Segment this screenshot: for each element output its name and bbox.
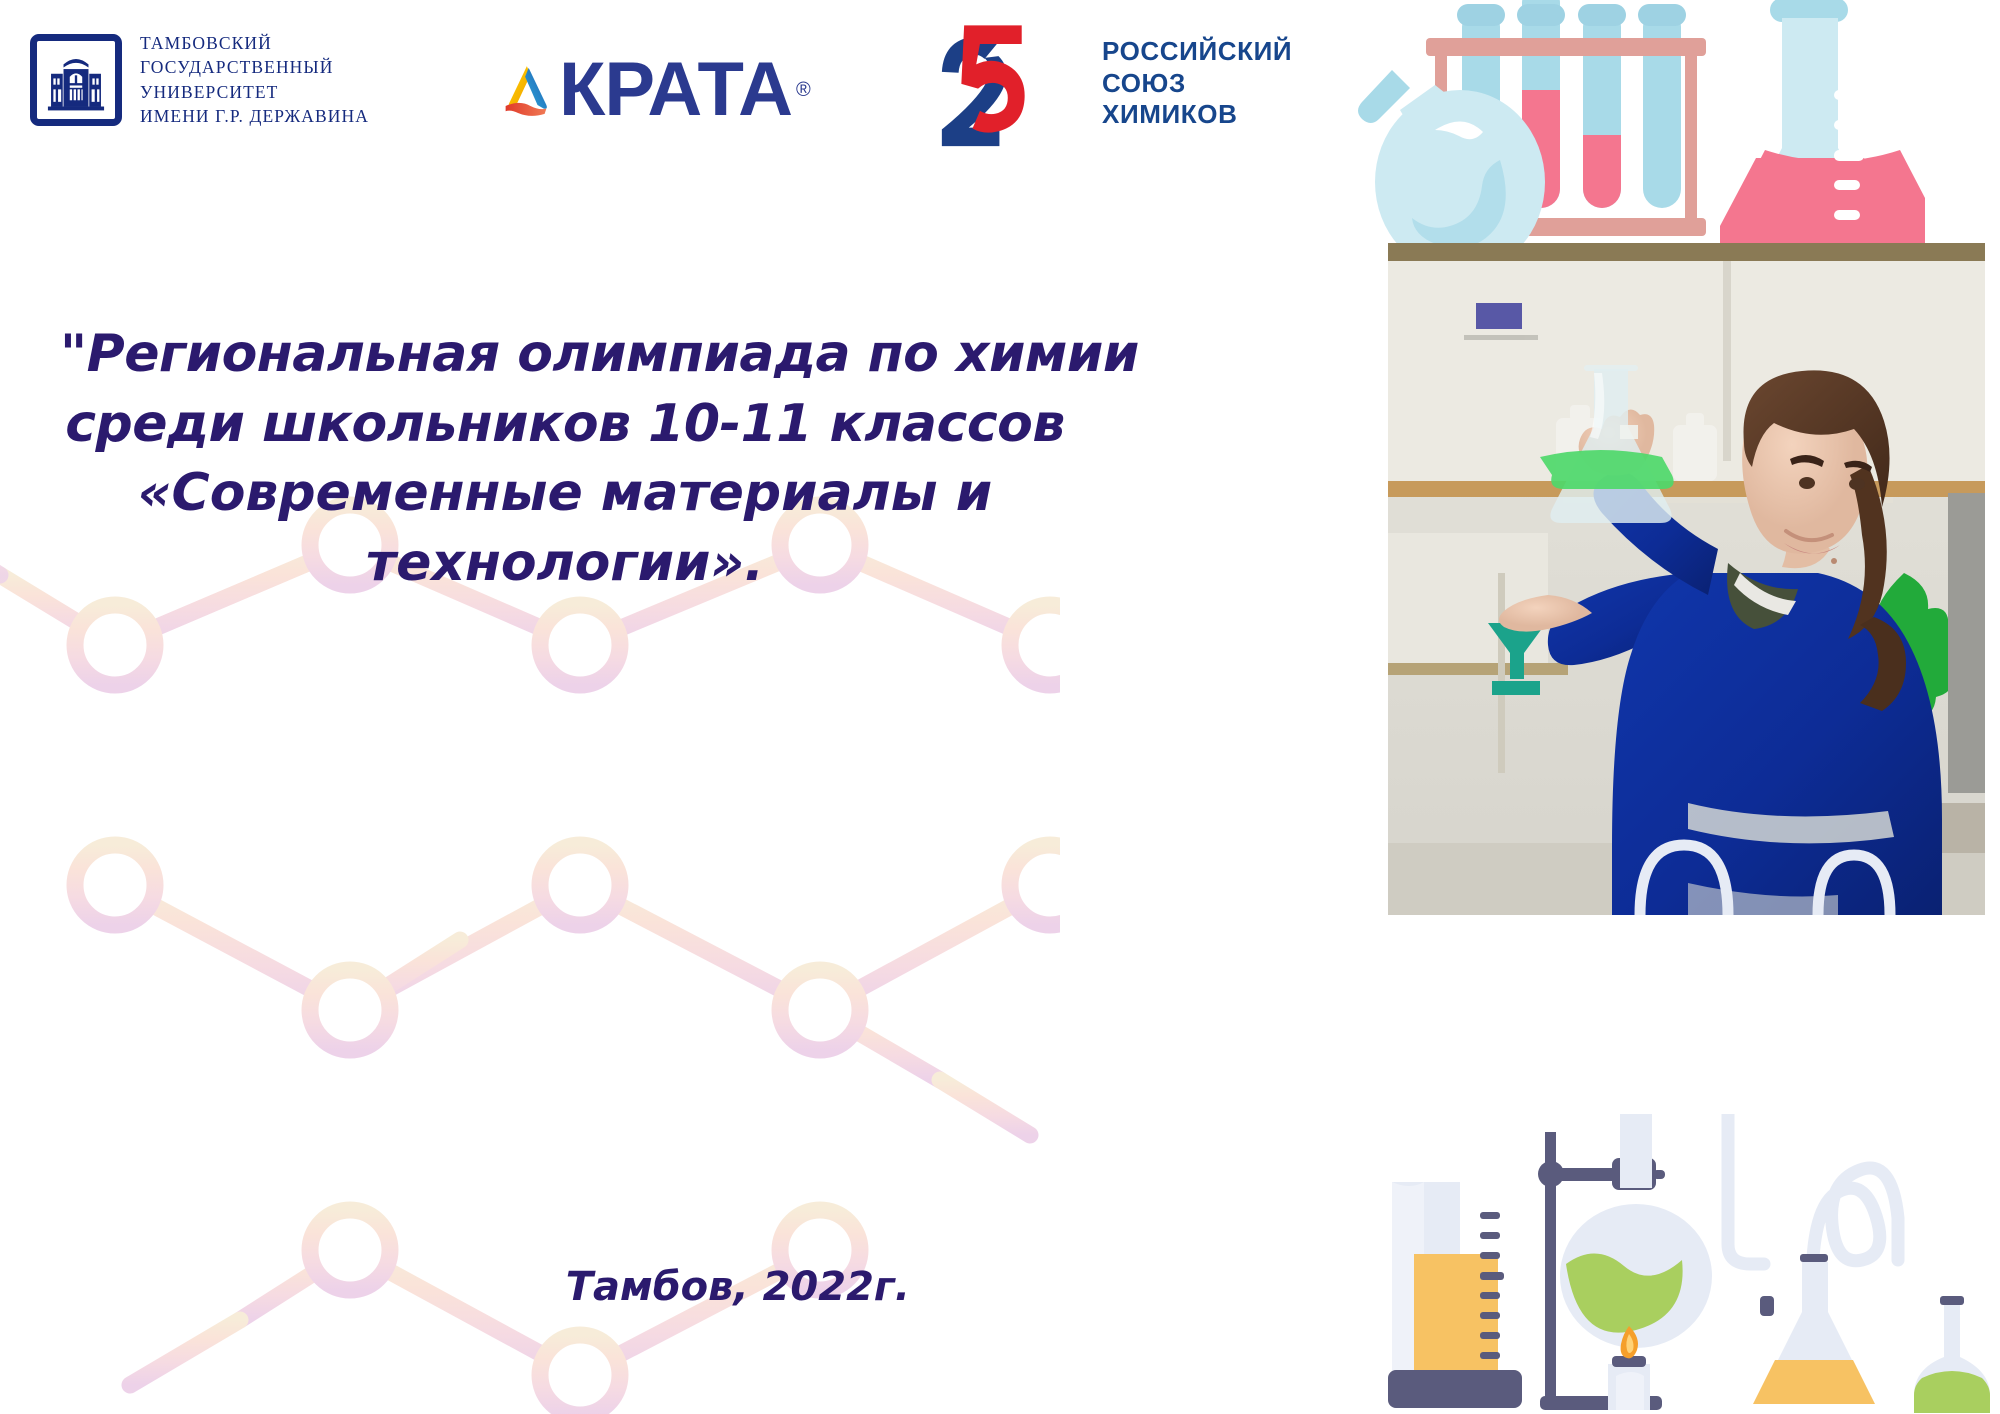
sponsor-wordmark: КРАТА [559, 52, 792, 128]
sponsor-logo: КРАТА ® [495, 52, 811, 128]
lab-apparatus-icon [1340, 1114, 2000, 1414]
university-line-2: ГОСУДАРСТВЕННЫЙ [140, 56, 369, 78]
place-and-date: Тамбов, 2022г. [60, 1264, 1070, 1310]
union-line-1: РОССИЙСКИЙ [1102, 36, 1292, 67]
union-line-2: СОЮЗ [1102, 68, 1292, 99]
logo-bar: ТАМБОВСКИЙ ГОСУДАРСТВЕННЫЙ УНИВЕРСИТЕТ И… [0, 0, 1340, 200]
trademark-symbol: ® [796, 79, 811, 102]
university-line-1: ТАМБОВСКИЙ [140, 32, 369, 54]
title-line-1: "Региональная олимпиада по химии [60, 320, 1070, 390]
union-logo: РОССИЙСКИЙ СОЮЗ ХИМИКОВ [930, 18, 1292, 148]
university-line-3: УНИВЕРСИТЕТ [140, 81, 369, 103]
chemist-with-flask-photo [1388, 243, 1985, 915]
test-tube-rack-flasks-icon [1340, 0, 2000, 270]
page-title: "Региональная олимпиада по химии среди ш… [60, 320, 1070, 599]
krata-triangle-icon [495, 59, 557, 121]
poster-canvas: ТАМБОВСКИЙ ГОСУДАРСТВЕННЫЙ УНИВЕРСИТЕТ И… [0, 0, 2000, 1414]
university-building-icon [30, 34, 122, 126]
university-logo-text: ТАМБОВСКИЙ ГОСУДАРСТВЕННЫЙ УНИВЕРСИТЕТ И… [140, 32, 369, 128]
title-line-2: среди школьников 10-11 классов [60, 390, 1070, 460]
union-logo-text: РОССИЙСКИЙ СОЮЗ ХИМИКОВ [1102, 36, 1292, 130]
title-line-3: «Современные материалы и [60, 459, 1070, 529]
union-line-3: ХИМИКОВ [1102, 99, 1292, 130]
title-line-4: технологии». [60, 529, 1070, 599]
university-logo: ТАМБОВСКИЙ ГОСУДАРСТВЕННЫЙ УНИВЕРСИТЕТ И… [30, 32, 369, 128]
anniversary-25-icon [930, 18, 1080, 148]
university-line-4: ИМЕНИ Г.Р. ДЕРЖАВИНА [140, 105, 369, 127]
